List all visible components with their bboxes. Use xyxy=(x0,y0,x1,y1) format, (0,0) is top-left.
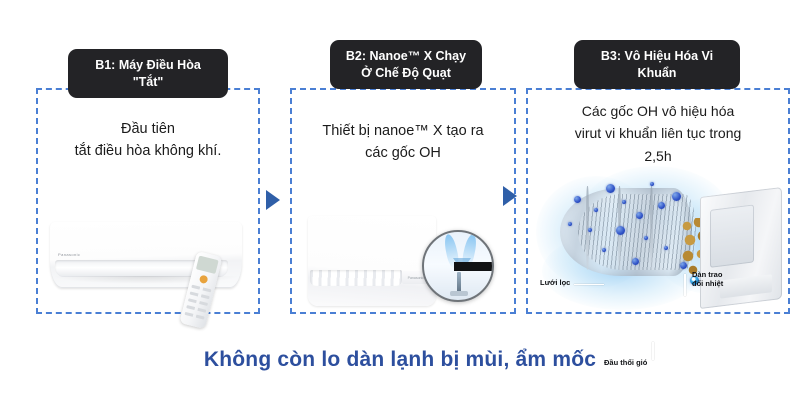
exchanger-rib xyxy=(650,186,653,270)
heat-exchanger-diagram: Lưới lọc Dàn trao đổi nhiệt Đầu thổi gió xyxy=(532,170,790,312)
label-leader-line xyxy=(574,284,604,285)
panel-b3: Các gốc OH vô hiệu hóa virut vi khuẩn li… xyxy=(526,88,790,314)
remote-button-row xyxy=(188,298,208,306)
panel-title-b3: B3: Vô Hiệu Hóa Vi Khuẩn xyxy=(574,40,740,89)
ac-brand-logo: Panasonic xyxy=(408,276,424,280)
oh-radical-particle xyxy=(664,246,668,250)
oh-radical-particle xyxy=(680,262,687,269)
remote-button-row xyxy=(185,312,205,320)
ac-brand-logo: Panasonic xyxy=(58,252,80,257)
oh-radical-particle xyxy=(636,212,643,219)
panel-b1: Đầu tiên tắt điều hòa không khí. Panason… xyxy=(36,88,260,314)
diagram-label-heat-exchanger: Dàn trao đổi nhiệt xyxy=(692,270,723,288)
remote-button-row xyxy=(191,285,211,293)
remote-button-row xyxy=(190,291,210,299)
oh-radical-particle xyxy=(644,236,648,240)
oh-radical-particle xyxy=(602,248,606,252)
diagram-label-filter: Lưới lọc xyxy=(540,278,570,287)
flow-arrow-icon xyxy=(266,190,280,210)
oh-radical-particle xyxy=(574,196,581,203)
ac-louver-slats xyxy=(310,270,402,286)
nanoe-emitter-magnifier-icon xyxy=(422,230,494,302)
footer-caption: Không còn lo dàn lạnh bị mùi, ẩm mốc xyxy=(0,348,800,372)
ac-body-shape xyxy=(308,216,436,306)
panel-title-b2: B2: Nanoe™ X Chạy Ở Chế Độ Quạt xyxy=(330,40,482,89)
air-conditioner-unit-icon: Panasonic xyxy=(308,216,436,306)
panel-title-b1: B1: Máy Điều Hòa "Tắt" xyxy=(68,49,228,98)
oh-radical-particle xyxy=(606,184,615,193)
emitter-housing-bar xyxy=(454,262,494,271)
panel-b1-body-text: Đầu tiên tắt điều hòa không khí. xyxy=(38,118,258,163)
oh-radical-particle xyxy=(588,228,592,232)
panel-b2-body-text: Thiết bị nanoe™ X tạo ra các gốc OH xyxy=(292,120,514,165)
oh-radical-particle xyxy=(650,182,654,186)
oh-radical-particle xyxy=(616,226,625,235)
oh-radical-particle xyxy=(672,192,681,201)
label-leader-line xyxy=(652,342,654,360)
oh-radical-particle xyxy=(658,202,665,209)
oh-radical-particle xyxy=(594,208,598,212)
remote-screen xyxy=(196,256,219,274)
oh-radical-particle xyxy=(622,200,626,204)
remote-button-row xyxy=(186,305,206,313)
remote-power-button xyxy=(199,274,209,284)
panel-b2: Thiết bị nanoe™ X tạo ra các gốc OH Pana… xyxy=(290,88,516,314)
panel-b3-body-text: Các gốc OH vô hiệu hóa virut vi khuẩn li… xyxy=(528,100,788,167)
infographic-stage: B1: Máy Điều Hòa "Tắt" Đầu tiên tắt điều… xyxy=(0,0,800,420)
oh-radical-particle xyxy=(632,258,639,265)
label-leader-line xyxy=(684,274,686,296)
diagram-label-air-outlet: Đầu thổi gió xyxy=(604,358,647,367)
nanoe-emitter-base xyxy=(450,291,468,296)
flow-arrow-icon xyxy=(503,186,517,206)
oh-radical-particle xyxy=(568,222,572,226)
unit-chassis-frame xyxy=(700,187,782,309)
